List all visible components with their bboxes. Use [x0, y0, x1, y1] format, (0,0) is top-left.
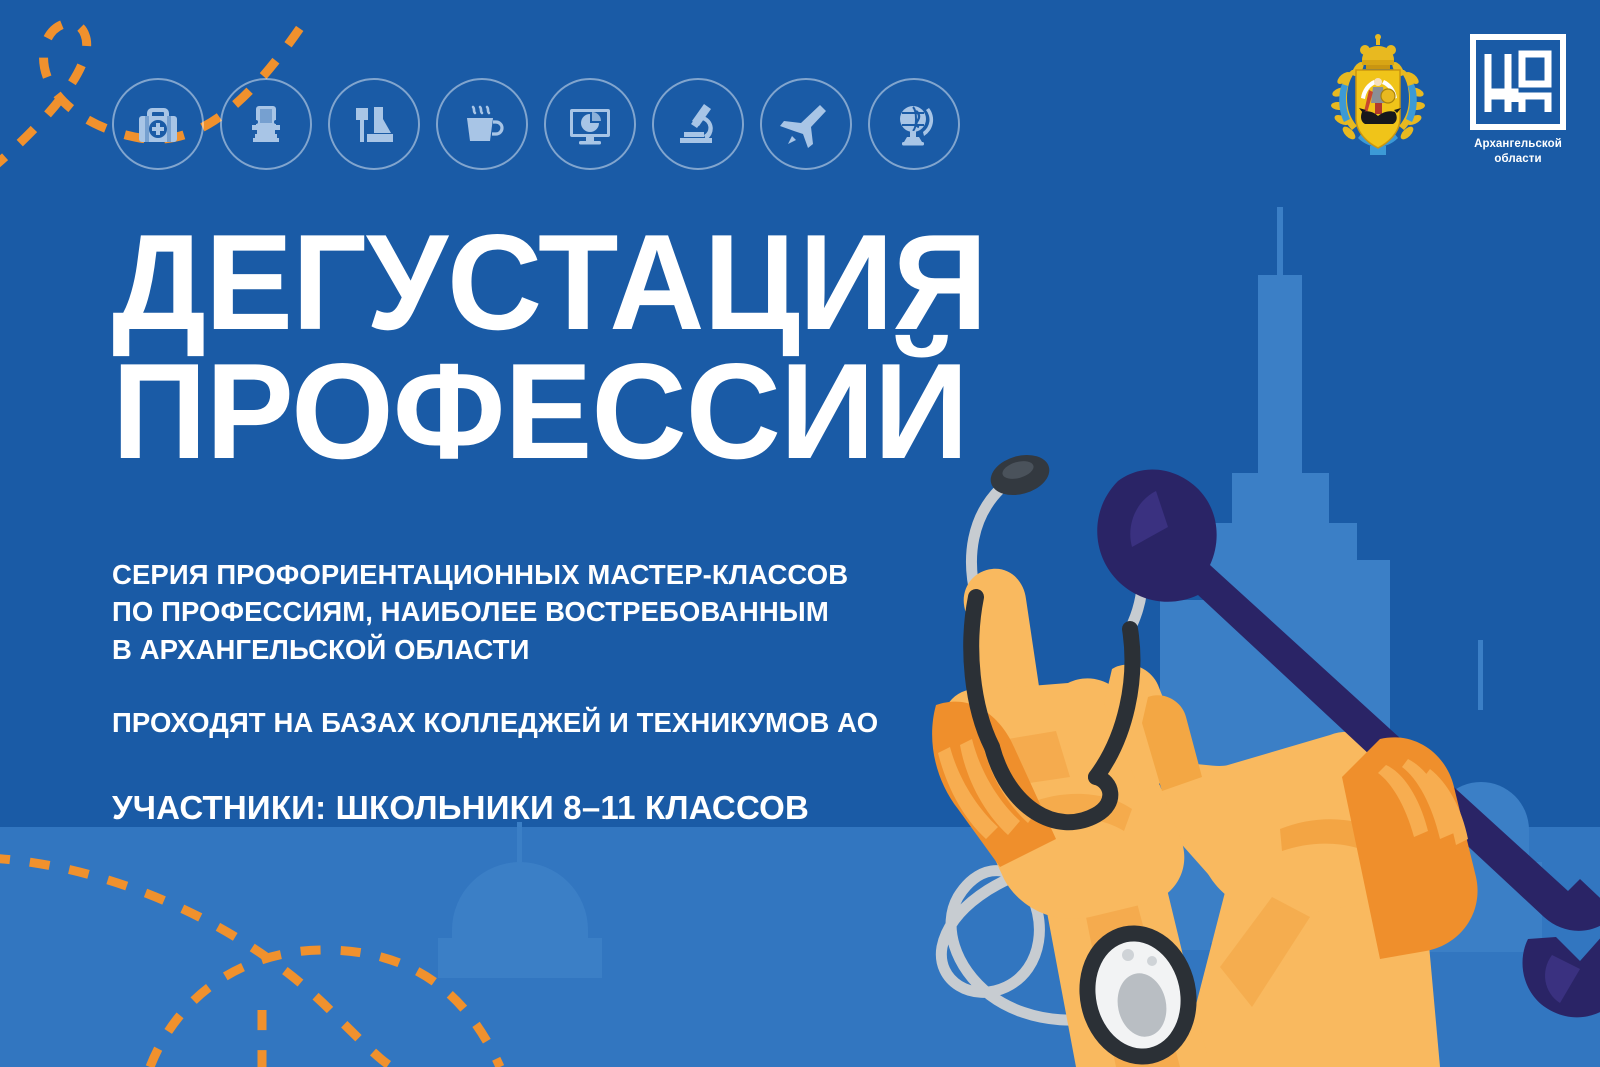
medical-bag-icon — [112, 78, 204, 170]
body-paragraph-2: ПРОХОДЯТ НА БАЗАХ КОЛЛЕДЖЕЙ И ТЕХНИКУМОВ… — [112, 704, 932, 741]
monitor-chart-icon — [544, 78, 636, 170]
globe-icon — [868, 78, 960, 170]
microscope-icon — [652, 78, 744, 170]
body-paragraph-1-line-2: ПО ПРОФЕССИЯМ, НАИБОЛЕЕ ВОСТРЕБОВАННЫМ — [112, 593, 932, 630]
body-paragraph-1-line-3: В АРХАНГЕЛЬСКОЙ ОБЛАСТИ — [112, 631, 932, 668]
poster-canvas: Архангельской области ДЕГУСТАЦИЯ ПРОФЕСС… — [0, 0, 1600, 1067]
construction-tools-icon — [328, 78, 420, 170]
logo-group: Архангельской области — [1322, 34, 1578, 166]
surveying-theodolite-icon — [220, 78, 312, 170]
hands-illustration — [880, 447, 1600, 1067]
coffee-cup-icon — [436, 78, 528, 170]
copp-subtitle-line2: области — [1474, 152, 1562, 167]
airplane-icon — [760, 78, 852, 170]
coat-of-arms-arkhangelsk-icon — [1322, 34, 1434, 164]
body-paragraph-1-line-1: СЕРИЯ ПРОФОРИЕНТАЦИОННЫХ МАСТЕР-КЛАССОВ — [112, 556, 932, 593]
poster-body-copy: СЕРИЯ ПРОФОРИЕНТАЦИОННЫХ МАСТЕР-КЛАССОВ … — [112, 556, 932, 830]
poster-headline: ДЕГУСТАЦИЯ ПРОФЕССИЙ — [112, 218, 1063, 476]
copp-subtitle: Архангельской области — [1474, 137, 1562, 166]
copp-subtitle-line1: Архангельской — [1474, 137, 1562, 152]
headline-line-1: ДЕГУСТАЦИЯ — [112, 218, 1063, 347]
profession-icon-strip — [112, 78, 960, 170]
copp-logo: Архангельской области — [1458, 34, 1578, 166]
body-paragraph-3-participants: УЧАСТНИКИ: ШКОЛЬНИКИ 8–11 КЛАССОВ — [112, 786, 932, 831]
left-dome — [452, 862, 588, 942]
copp-mark-icon — [1470, 34, 1566, 130]
